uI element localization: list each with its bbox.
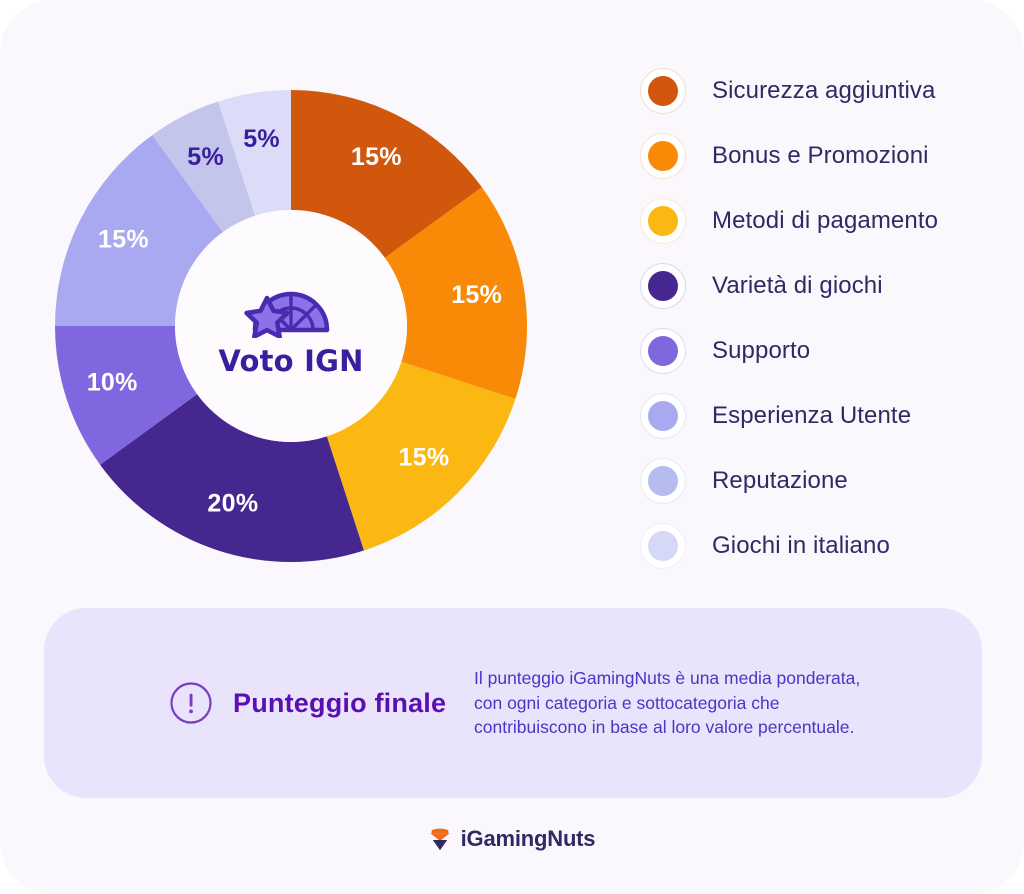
legend-item-label: Varietà di giochi xyxy=(712,272,883,300)
legend-item[interactable]: Esperienza Utente xyxy=(640,383,1000,448)
donut-slice-label: 5% xyxy=(187,143,224,171)
legend-item-label: Bonus e Promozioni xyxy=(712,142,929,170)
legend-item-label: Giochi in italiano xyxy=(712,532,890,560)
final-score-title: Punteggio finale xyxy=(233,688,446,719)
donut-slice-label: 10% xyxy=(87,369,138,397)
donut-slice-label: 15% xyxy=(351,143,402,171)
final-score-description: Il punteggio iGamingNuts è una media pon… xyxy=(474,666,944,741)
donut-chart: 15%15%15%20%10%15%5%5% Voto IGN xyxy=(22,60,562,600)
legend-swatch-icon xyxy=(640,133,686,179)
legend-item[interactable]: Metodi di pagamento xyxy=(640,188,1000,253)
legend-item-label: Esperienza Utente xyxy=(712,402,911,430)
donut-slice-label: 15% xyxy=(98,225,149,253)
legend-item-label: Metodi di pagamento xyxy=(712,207,938,235)
legend-item-label: Sicurezza aggiuntiva xyxy=(712,77,935,105)
final-score-heading-group: Punteggio finale xyxy=(44,681,474,725)
legend-item[interactable]: Bonus e Promozioni xyxy=(640,123,1000,188)
legend-swatch-fill xyxy=(648,76,678,106)
legend-swatch-fill xyxy=(648,206,678,236)
legend-swatch-fill xyxy=(648,401,678,431)
legend-item[interactable]: Reputazione xyxy=(640,448,1000,513)
legend-item-label: Reputazione xyxy=(712,467,848,495)
legend-item-label: Supporto xyxy=(712,337,810,365)
donut-slice-label: 15% xyxy=(451,281,502,309)
final-score-panel: Punteggio finale Il punteggio iGamingNut… xyxy=(44,608,982,798)
legend-swatch-icon xyxy=(640,263,686,309)
gauge-star-icon xyxy=(237,274,345,338)
footer-brand-name: iGamingNuts xyxy=(461,826,596,852)
donut-slice-label: 20% xyxy=(207,489,258,517)
legend-swatch-fill xyxy=(648,271,678,301)
legend-swatch-fill xyxy=(648,466,678,496)
legend-swatch-icon xyxy=(640,198,686,244)
legend-swatch-icon xyxy=(640,328,686,374)
donut-slice-label: 5% xyxy=(243,125,280,153)
footer-brand-group: iGamingNuts xyxy=(0,826,1024,852)
legend-item[interactable]: Supporto xyxy=(640,318,1000,383)
hub-title: Voto IGN xyxy=(218,344,363,378)
donut-chart-canvas: 15%15%15%20%10%15%5%5% Voto IGN xyxy=(55,90,527,562)
legend-item[interactable]: Varietà di giochi xyxy=(640,253,1000,318)
acorn-icon xyxy=(429,827,451,851)
legend-item[interactable]: Sicurezza aggiuntiva xyxy=(640,58,1000,123)
scorecard-infographic: 15%15%15%20%10%15%5%5% Voto IGN xyxy=(0,0,1024,894)
legend-swatch-icon xyxy=(640,68,686,114)
legend-swatch-icon xyxy=(640,458,686,504)
legend-swatch-fill xyxy=(648,531,678,561)
donut-center-hub: Voto IGN xyxy=(175,210,407,442)
chart-legend: Sicurezza aggiuntivaBonus e PromozioniMe… xyxy=(640,58,1000,578)
legend-swatch-fill xyxy=(648,336,678,366)
donut-slice-label: 15% xyxy=(398,444,449,472)
legend-swatch-fill xyxy=(648,141,678,171)
exclamation-circle-icon xyxy=(169,681,213,725)
legend-swatch-icon xyxy=(640,393,686,439)
legend-swatch-icon xyxy=(640,523,686,569)
legend-item[interactable]: Giochi in italiano xyxy=(640,513,1000,578)
